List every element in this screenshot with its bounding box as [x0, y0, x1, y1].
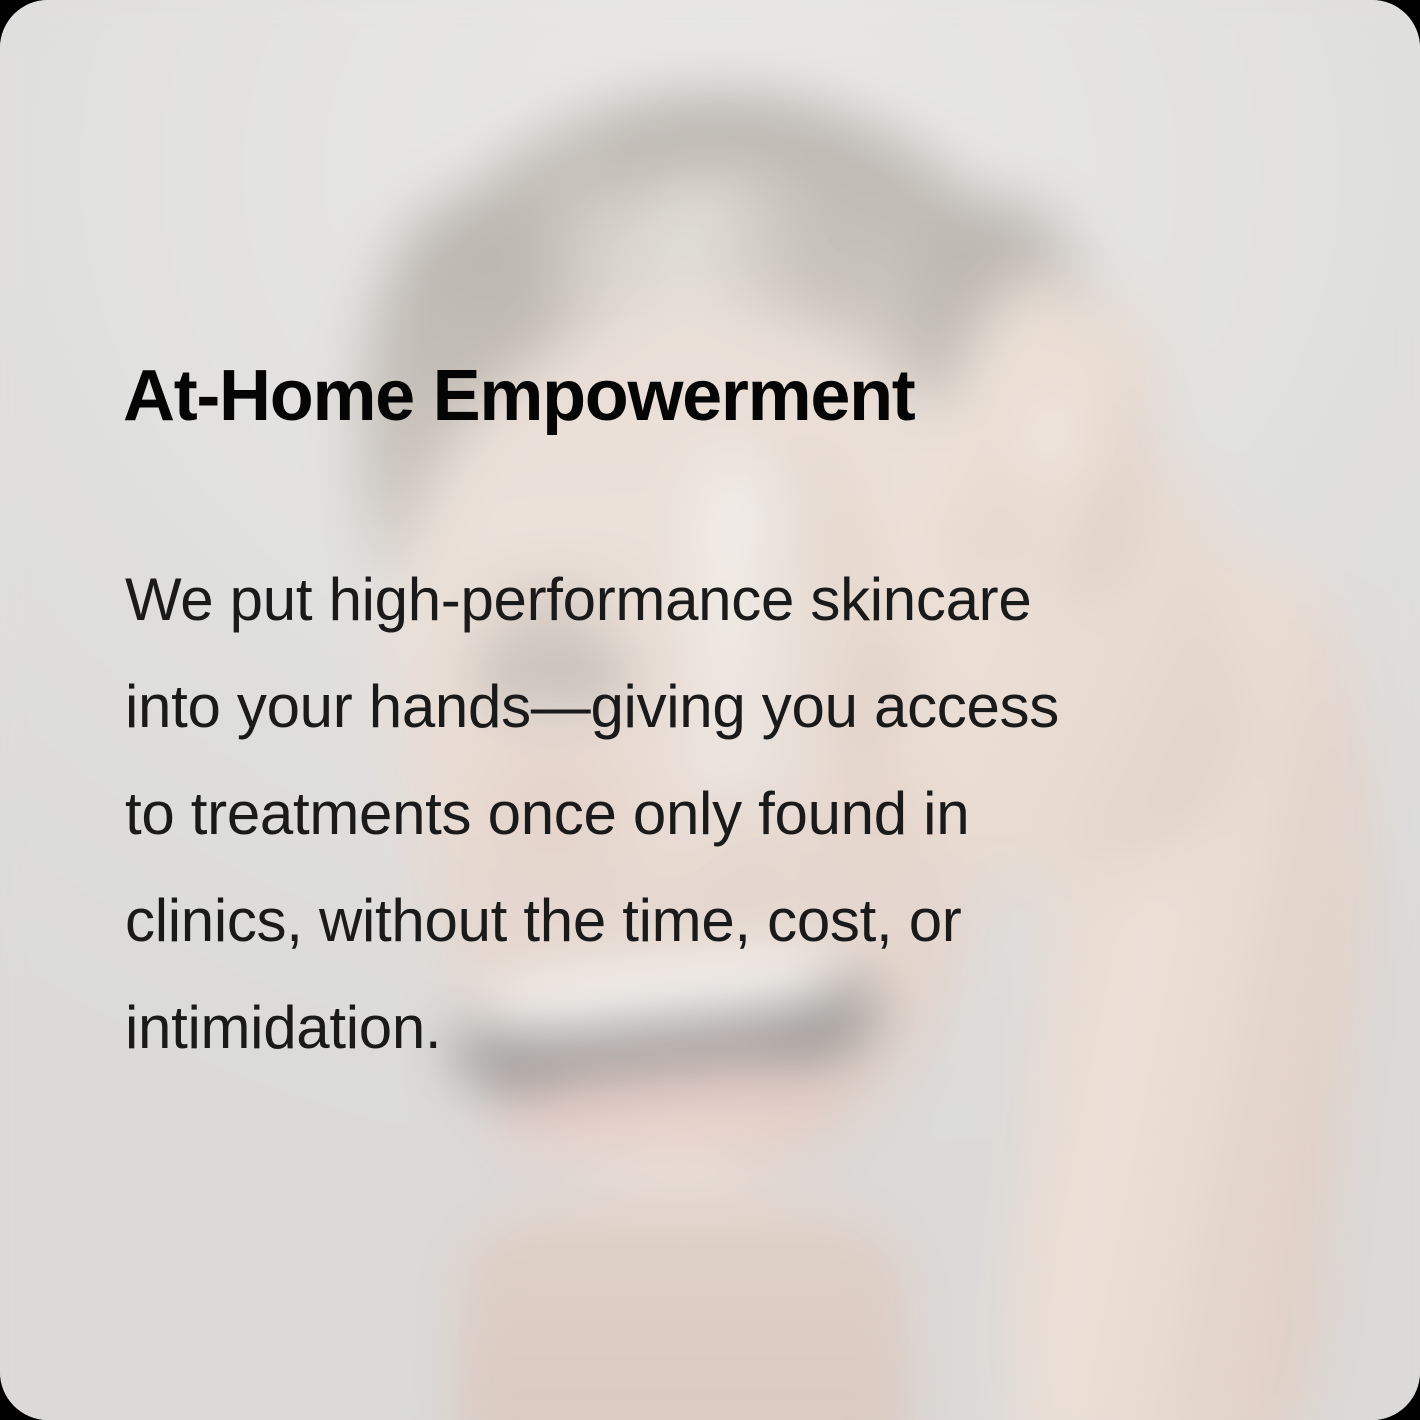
page-title: At-Home Empowerment [123, 360, 914, 432]
body-paragraph: We put high-performance skincare into yo… [125, 546, 1347, 1081]
body-line: to treatments once only found in [125, 760, 1347, 867]
body-line: clinics, without the time, cost, or [125, 867, 1347, 974]
body-line: We put high-performance skincare [125, 546, 1347, 653]
at-home-empowerment-card: At-Home Empowerment We put high-performa… [0, 0, 1420, 1420]
body-line: into your hands—giving you access [125, 653, 1347, 760]
card-content: At-Home Empowerment We put high-performa… [123, 0, 1338, 1420]
body-line: intimidation. [125, 974, 1347, 1081]
